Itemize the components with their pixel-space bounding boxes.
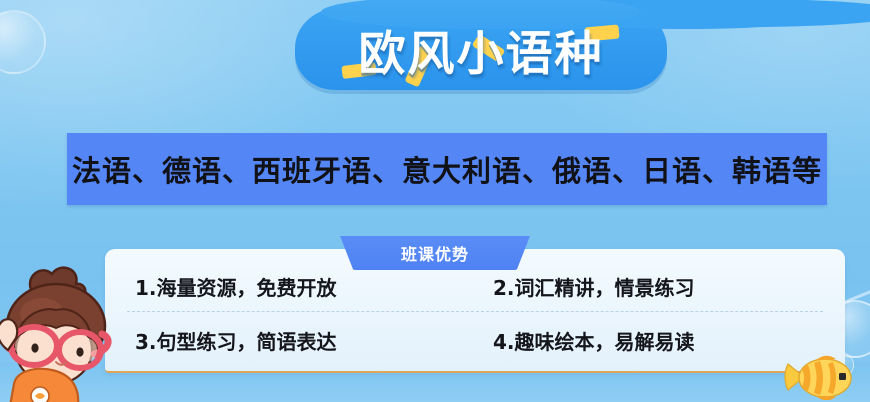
page-title: 欧风小语种	[295, 8, 667, 90]
language-list-band: 法语、德语、西班牙语、意大利语、俄语、日语、韩语等	[67, 133, 827, 205]
advantage-item: 2.词汇精讲，情景练习	[475, 259, 845, 313]
language-list-text: 法语、德语、西班牙语、意大利语、俄语、日语、韩语等	[72, 148, 822, 190]
bubble-icon	[0, 10, 46, 74]
advantages-tab: 班课优势	[340, 236, 530, 270]
swimmer-girl-icon	[0, 258, 112, 402]
promotional-poster: 欧风小语种 法语、德语、西班牙语、意大利语、俄语、日语、韩语等 班课优势 1.海…	[0, 0, 870, 402]
advantage-item: 3.句型练习，简语表达	[105, 313, 475, 367]
tropical-fish-icon	[782, 354, 854, 400]
advantages-tab-label: 班课优势	[401, 241, 469, 265]
title-banner: 欧风小语种	[295, 8, 667, 90]
